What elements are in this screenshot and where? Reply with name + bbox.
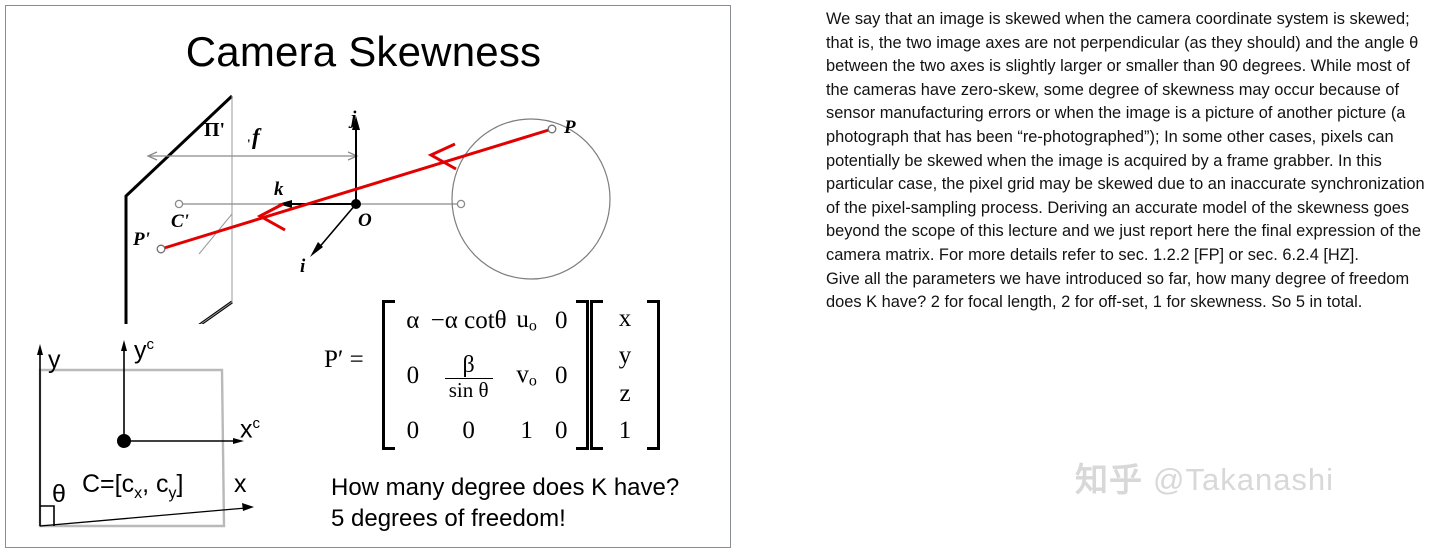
vector-cell-y: y [603, 338, 647, 376]
camera-matrix-table: α −α cotθ uo 0 0 β sin θ vo 0 0 [395, 300, 576, 450]
axis-y-label: y [48, 346, 61, 375]
matrix-cell-r1c4: 0 [547, 300, 576, 341]
zhihu-logo-icon: 知乎 [1075, 463, 1143, 496]
matrix-cell-r3c3: 1 [507, 412, 547, 450]
camera-matrix-equation: P′ = α −α cotθ uo 0 0 β sin θ [324, 292, 694, 462]
vector-cell-x: x [603, 300, 647, 338]
world-point-marker [548, 125, 556, 133]
image-plane-label: Π' [204, 119, 225, 142]
center-label-head: C=[c [82, 470, 134, 498]
axis-xc-base: x [240, 415, 253, 443]
matrix-cell-r3c4: 0 [547, 412, 576, 450]
beta-over-sin-theta-fraction: β sin θ [445, 353, 493, 401]
matrix-cell-r1c1: α [395, 300, 431, 341]
fraction-numerator: β [445, 353, 493, 378]
image-point-label: P' [133, 229, 150, 251]
vector-cell-one: 1 [603, 413, 647, 451]
right-angle-marker [40, 506, 54, 526]
matrix-cell-r2c1: 0 [395, 341, 431, 411]
matrix-cell-r2c4: 0 [547, 341, 576, 411]
world-point-label: P [564, 117, 576, 139]
matrix-row-2: 0 β sin θ vo 0 [395, 341, 576, 411]
focal-length-prime: ' [247, 136, 251, 152]
axis-x-label: x [234, 470, 247, 499]
fraction-denominator: sin θ [445, 379, 493, 401]
principal-point-marker [175, 200, 182, 207]
image-point-marker [157, 245, 165, 253]
vector-bracket-right [647, 300, 660, 450]
matrix-cell-r2c3-sub: o [529, 373, 537, 390]
matrix-cell-r1c3-base: u [516, 306, 529, 333]
matrix-bracket-left [382, 300, 395, 450]
matrix-cell-r1c2: −α cotθ [431, 300, 507, 341]
matrix-row-1: α −α cotθ uo 0 [395, 300, 576, 341]
image-plane-diagonal [199, 214, 232, 254]
axis-x-line [40, 508, 246, 526]
slide-question-text: How many degree does K have? 5 degrees o… [331, 472, 679, 534]
page-title: Camera Skewness [6, 28, 721, 76]
watermark-handle: @Takanashi [1153, 464, 1334, 495]
vector-row-2: y [603, 338, 647, 376]
perspective-diagram-svg [6, 84, 731, 324]
origin-marker [351, 199, 361, 209]
transcript-paragraph-1: We say that an image is skewed when the … [826, 8, 1426, 268]
center-sub-x: x [134, 485, 142, 502]
center-label-end: ] [177, 470, 184, 498]
matrix-cell-r2c3-base: v [516, 361, 529, 388]
slide-question-line-2: 5 degrees of freedom! [331, 503, 679, 534]
matrix-cell-r1c3-sub: o [529, 317, 537, 334]
axis-yc-arrowhead [121, 340, 127, 351]
grid-diagram-svg [24, 328, 304, 543]
projection-ray-arrowhead-lower [260, 204, 285, 230]
axis-xc-superscript: c [253, 415, 261, 432]
axis-x-arrowhead [242, 503, 254, 511]
matrix-row-3: 0 0 1 0 [395, 412, 576, 450]
axis-yc-base: y [134, 336, 147, 364]
origin-label: O [358, 210, 372, 232]
principal-point-label: C' [171, 211, 189, 233]
matrix-cell-r2c3: vo [507, 341, 547, 411]
slide-question-line-1: How many degree does K have? [331, 472, 679, 503]
center-label-mid: , c [142, 470, 168, 498]
axis-yc-label: yc [134, 336, 154, 365]
equation-lhs: P′ = [324, 346, 364, 374]
center-sub-y: y [169, 485, 177, 502]
principal-point-label: C=[cx, cy] [82, 470, 183, 503]
vector-bracket-left [590, 300, 603, 450]
slide-panel: Camera Skewness [5, 5, 731, 548]
zhihu-watermark: 知乎 @Takanashi [1075, 463, 1334, 496]
transcript-panel: We say that an image is skewed when the … [826, 8, 1426, 315]
axis-yc-superscript: c [147, 336, 155, 353]
matrix-cell-r3c1: 0 [395, 412, 431, 450]
vector-row-4: 1 [603, 413, 647, 451]
object-ellipse [452, 119, 610, 279]
homogeneous-point-vector: x y z 1 [603, 300, 647, 450]
axis-xc-label: xc [240, 415, 260, 444]
matrix-cell-r2c2: β sin θ [431, 341, 507, 411]
focal-length-label: f [252, 124, 260, 150]
skewed-pixel-grid-diagram: y yc xc x θ C=[cx, cy] [24, 328, 304, 543]
axis-j-label: j [351, 108, 356, 130]
axis-i-line [317, 204, 356, 250]
vector-row-3: z [603, 375, 647, 413]
theta-angle-label: θ [52, 480, 66, 509]
matrix-cell-r3c2: 0 [431, 412, 507, 450]
axis-i-label: i [300, 256, 305, 278]
matrix-cell-r1c3: uo [507, 300, 547, 341]
matrix-bracket-right [576, 300, 589, 450]
object-axis-point-marker [457, 200, 464, 207]
image-plane-edge-bottom [126, 302, 232, 324]
axis-y-arrowhead [37, 344, 43, 355]
perspective-projection-diagram: Π' f ' C' P' P O i j k [6, 84, 731, 324]
vector-row-1: x [603, 300, 647, 338]
transcript-paragraph-2: Give all the parameters we have introduc… [826, 268, 1426, 315]
axis-k-label: k [274, 179, 284, 201]
principal-point-dot [117, 434, 131, 448]
vector-cell-z: z [603, 375, 647, 413]
